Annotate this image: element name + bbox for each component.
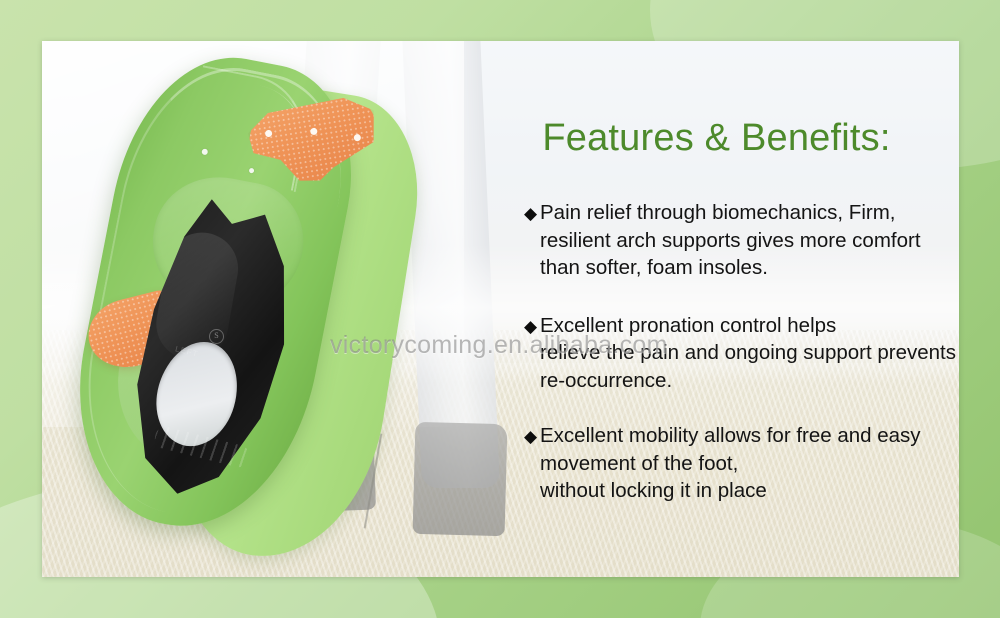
diamond-bullet-icon: ◆ xyxy=(524,423,537,451)
list-item-line: without locking it in place xyxy=(540,477,955,505)
product-banner: S LEFT Features & Benefits: ◆ Pain relie… xyxy=(0,0,1000,618)
page-title: Features & Benefits: xyxy=(482,117,951,160)
text-column: Features & Benefits: ◆ Pain relief throu… xyxy=(482,41,959,577)
benefits-list: ◆ Pain relief through biomechanics, Firm… xyxy=(524,199,955,529)
shell-brand-logo-icon: S xyxy=(209,329,224,344)
list-item-line: resilient arch supports gives more comfo… xyxy=(540,227,955,255)
product-image: S LEFT xyxy=(42,41,512,577)
list-item-line: re-occurrence. xyxy=(540,367,955,395)
list-item: ◆ Pain relief through biomechanics, Firm… xyxy=(524,199,955,282)
diamond-bullet-icon: ◆ xyxy=(524,200,537,228)
list-item: ◆ Excellent pronation control helps reli… xyxy=(524,312,955,395)
list-item-line: movement of the foot, xyxy=(540,450,955,478)
list-item-line: Excellent mobility allows for free and e… xyxy=(540,422,955,450)
list-item-line: than softer, foam insoles. xyxy=(540,254,955,282)
diamond-bullet-icon: ◆ xyxy=(524,313,537,341)
list-item-line: relieve the pain and ongoing support pre… xyxy=(540,339,955,367)
list-item-line: Excellent pronation control helps xyxy=(540,312,955,340)
content-panel: S LEFT Features & Benefits: ◆ Pain relie… xyxy=(42,41,959,577)
list-item: ◆ Excellent mobility allows for free and… xyxy=(524,422,955,505)
list-item-line: Pain relief through biomechanics, Firm, xyxy=(540,199,955,227)
